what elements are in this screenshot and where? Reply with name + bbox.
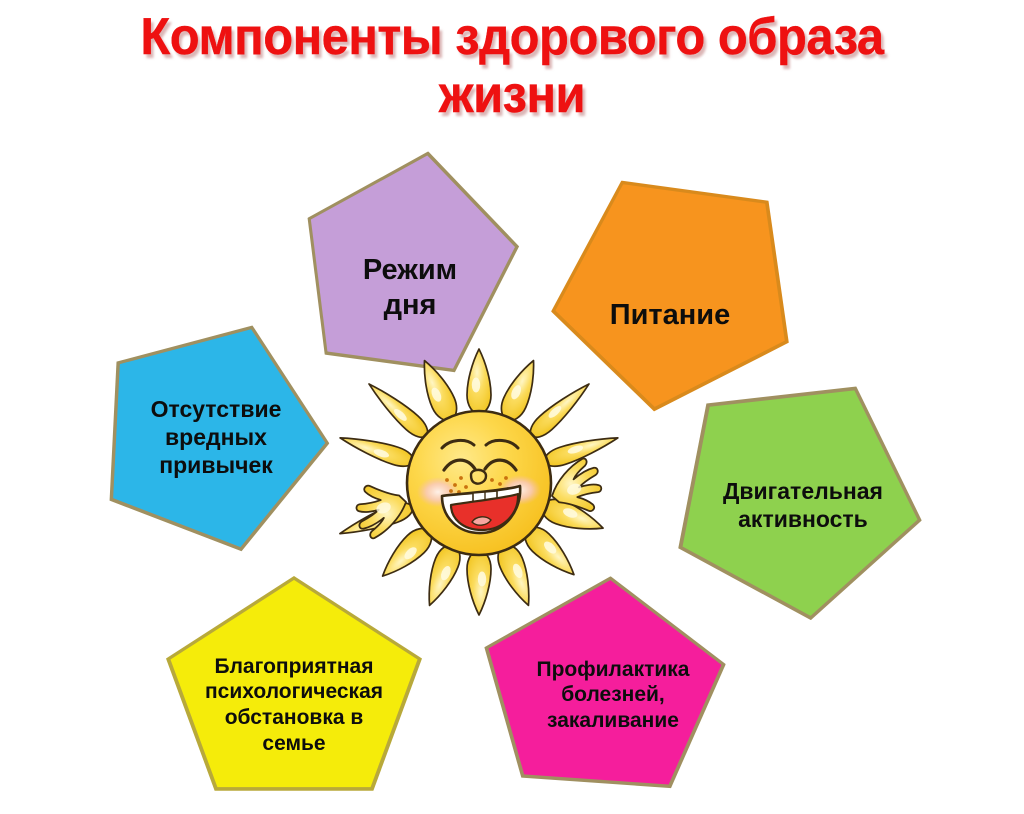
pentagon-icon <box>65 285 359 578</box>
sun-face <box>407 411 551 555</box>
page-title-line-1: Компоненты здорового образа <box>31 8 994 66</box>
poster-canvas: Компоненты здорового образа жизни Режим … <box>0 0 1024 814</box>
component-card-otsutstvie-vrednyh-privychek[interactable]: Отсутствие вредных привычек <box>98 318 326 544</box>
pentagon-fill <box>70 290 354 572</box>
page-title-line-2: жизни <box>31 66 994 124</box>
smiling-sun-icon <box>334 344 624 622</box>
page-title: Компоненты здорового образа жизни <box>0 8 1024 124</box>
